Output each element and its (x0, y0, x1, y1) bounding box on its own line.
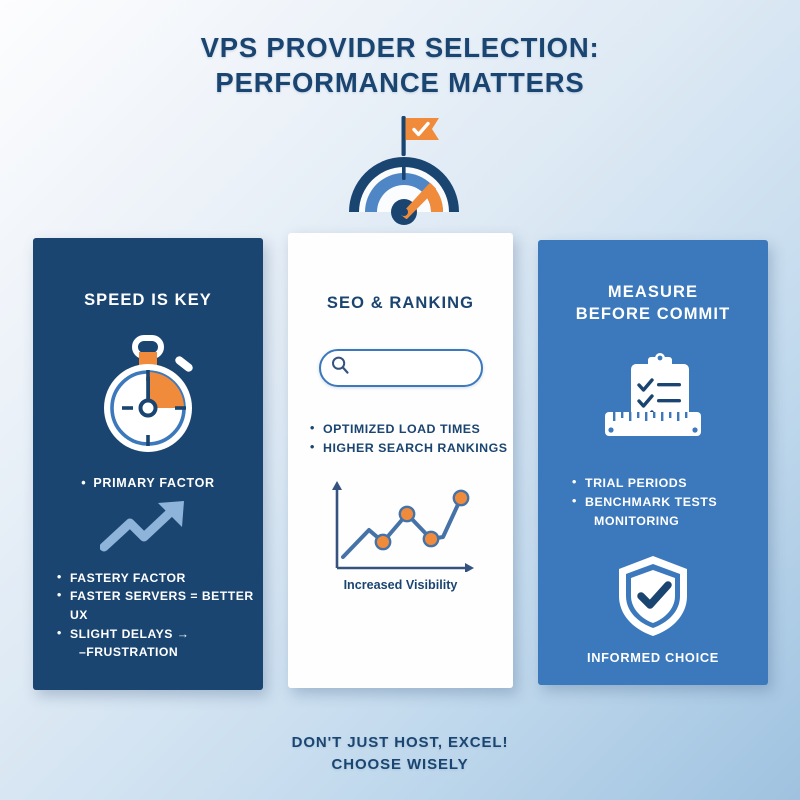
panel-middle-title: SEO & RANKING (288, 293, 513, 315)
stopwatch-icon (82, 330, 214, 458)
search-input-area[interactable] (321, 351, 483, 385)
increased-visibility-line-chart (321, 476, 481, 572)
clipboard-checklist-ruler-icon (595, 352, 711, 444)
panel-right-title-line-2: BEFORE COMMIT (538, 304, 768, 326)
page-footer: DON'T JUST HOST, EXCEL! CHOOSE WISELY (0, 732, 800, 776)
left-primary-bullet: PRIMARY FACTOR (33, 476, 263, 490)
right-bullet-list: TRIAL PERIODS BENCHMARK TESTS MONITORING (572, 474, 768, 531)
list-item: BENCHMARK TESTS (572, 493, 768, 512)
search-input[interactable] (350, 361, 483, 375)
speedometer-gauge-icon (335, 108, 475, 228)
panel-right-title: MEASURE BEFORE COMMIT (538, 282, 768, 326)
list-item: TRIAL PERIODS (572, 474, 768, 493)
list-item: FASTER SERVERS = BETTER UX (57, 587, 263, 624)
list-item: MONITORING (572, 512, 768, 531)
panel-speed-is-key: SPEED IS KEY PRIMARY FACTOR (33, 238, 263, 690)
search-bar[interactable] (319, 349, 483, 387)
page-title-line-1: VPS PROVIDER SELECTION: (0, 30, 800, 65)
shield-caption: INFORMED CHOICE (538, 650, 768, 665)
list-item: HIGHER SEARCH RANKINGS (310, 439, 513, 458)
middle-bullet-list: OPTIMIZED LOAD TIMES HIGHER SEARCH RANKI… (310, 420, 513, 458)
footer-line-2: CHOOSE WISELY (0, 754, 800, 776)
shield-check-icon (613, 552, 693, 640)
left-bullet-list: FASTERY FACTOR FASTER SERVERS = BETTER U… (57, 569, 263, 662)
page-title-line-2: PERFORMANCE MATTERS (0, 65, 800, 100)
list-item: –FRUSTRATION (57, 643, 263, 662)
list-item: SLIGHT DELAYS → (57, 625, 263, 644)
upward-trend-arrow-icon (100, 497, 196, 557)
footer-line-1: DON'T JUST HOST, EXCEL! (0, 732, 800, 754)
chart-x-axis-label: Increased Visibility (288, 578, 513, 592)
panel-measure-before-commit: MEASURE BEFORE COMMIT (538, 240, 768, 685)
list-item: OPTIMIZED LOAD TIMES (310, 420, 513, 439)
magnifier-icon (330, 355, 350, 380)
page-header: VPS PROVIDER SELECTION: PERFORMANCE MATT… (0, 30, 800, 100)
panel-seo-and-ranking: SEO & RANKING OPTIMIZED LOAD TIMES HIGHE… (288, 233, 513, 688)
list-item: FASTERY FACTOR (57, 569, 263, 588)
panel-right-title-line-1: MEASURE (538, 282, 768, 304)
panel-left-title: SPEED IS KEY (33, 290, 263, 312)
